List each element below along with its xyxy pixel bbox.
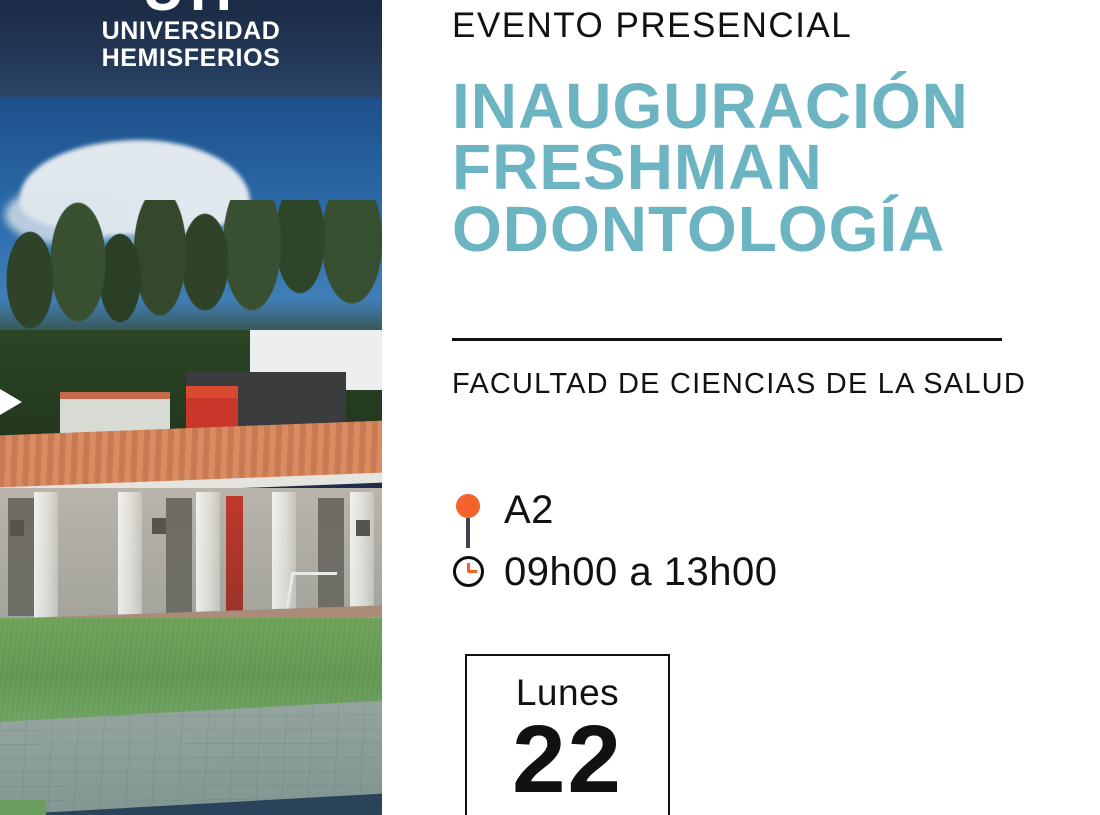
time-value: 09h00 a 13h00 xyxy=(504,550,777,595)
location-pin-icon xyxy=(452,492,494,554)
divider xyxy=(452,338,1002,341)
wall-sign xyxy=(152,518,166,534)
university-name-line1: UNIVERSIDAD xyxy=(102,17,281,45)
university-logo-mark: UH xyxy=(85,0,295,12)
date-card: Lunes 22 xyxy=(465,654,670,815)
clock-minute-hand xyxy=(468,570,477,573)
wall-sign xyxy=(356,520,370,536)
wall-sign xyxy=(10,520,24,536)
headline-line-3: ODONTOLOGÍA xyxy=(452,199,1012,260)
headline-line-1: INAUGURACIÓN xyxy=(452,76,1012,137)
column xyxy=(34,492,58,620)
pin-head xyxy=(456,494,480,518)
door xyxy=(166,498,192,616)
paved-walkway xyxy=(0,701,382,815)
red-banner-top xyxy=(186,386,238,398)
play-triangle-icon[interactable] xyxy=(0,376,22,428)
vertical-banner xyxy=(226,496,243,616)
university-name-line2: HEMISFERIOS xyxy=(102,44,281,72)
clock-icon xyxy=(452,554,494,616)
door xyxy=(8,498,34,616)
event-type-label: EVENTO PRESENCIAL xyxy=(452,6,852,46)
faculty-label: FACULTAD DE CIENCIAS DE LA SALUD xyxy=(452,368,1026,401)
content-column: EVENTO PRESENCIAL INAUGURACIÓN FRESHMAN … xyxy=(452,0,1052,815)
column xyxy=(196,492,220,620)
location-value: A2 xyxy=(504,488,554,533)
grass-sliver xyxy=(0,800,46,815)
date-day-number: 22 xyxy=(467,712,668,808)
headline-line-2: FRESHMAN xyxy=(452,137,1012,198)
university-name: UNIVERSIDAD HEMISFERIOS xyxy=(0,18,382,72)
pin-stem xyxy=(466,518,470,548)
column xyxy=(350,492,374,620)
photo-panel: UH UNIVERSIDAD HEMISFERIOS xyxy=(0,0,382,815)
column xyxy=(118,492,142,620)
page-title: INAUGURACIÓN FRESHMAN ODONTOLOGÍA xyxy=(452,76,1012,260)
campus-photo xyxy=(0,0,382,815)
event-poster: UH UNIVERSIDAD HEMISFERIOS EVENTO PRESEN… xyxy=(0,0,1100,815)
university-banner: UH UNIVERSIDAD HEMISFERIOS xyxy=(0,0,382,98)
